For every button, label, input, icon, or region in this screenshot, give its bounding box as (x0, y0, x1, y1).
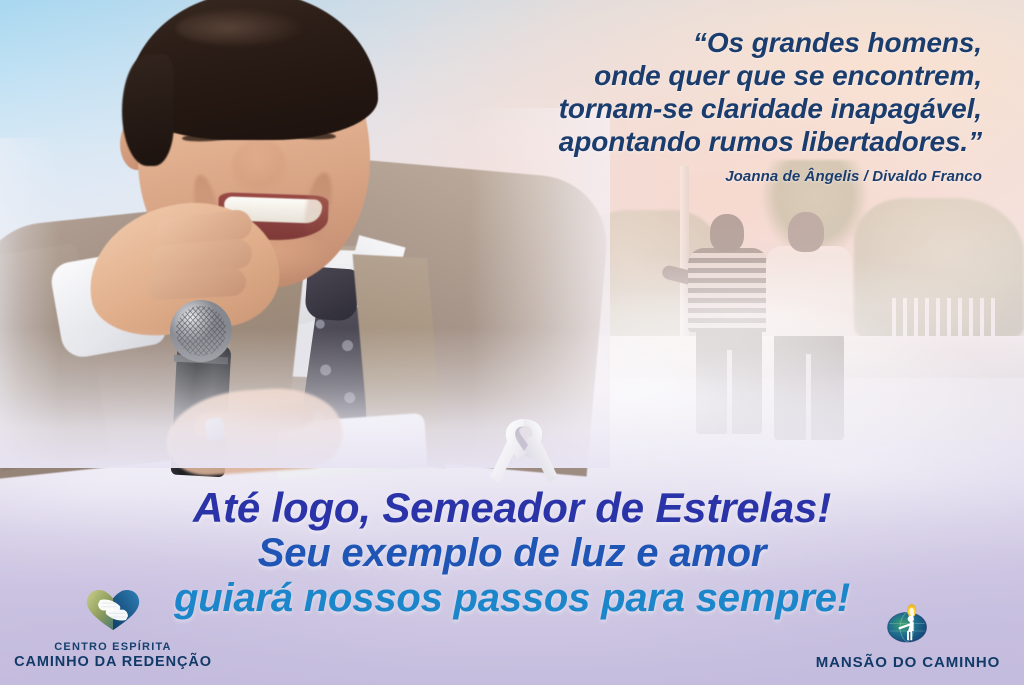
quote-line-4: apontando rumos libertadores.” (382, 125, 982, 158)
logo-mansao-do-caminho: MANSÃO DO CAMINHO (798, 603, 1018, 671)
nose (232, 140, 288, 202)
quote-line-1: “Os grandes homens, (382, 26, 982, 59)
tribute-line-1: Até logo, Semeador de Estrelas! (0, 484, 1024, 531)
memorial-tribute-poster: “Os grandes homens, onde quer que se enc… (0, 0, 1024, 685)
tribute-line-2: Seu exemplo de luz e amor (0, 531, 1024, 576)
quote-block: “Os grandes homens, onde quer que se enc… (382, 26, 982, 185)
hair-sideburn (122, 54, 174, 166)
logo-right-line-1: MANSÃO DO CAMINHO (798, 654, 1018, 671)
finger-3 (145, 267, 246, 300)
white-ribbon-icon (487, 409, 561, 491)
logo-left-line-2: CAMINHO DA REDENÇÃO (8, 654, 218, 671)
quote-line-3: tornam-se claridade inapagável, (382, 92, 982, 125)
globe-torch-bearer-icon (798, 603, 1018, 651)
quote-attribution: Joanna de Ângelis / Divaldo Franco (382, 168, 982, 185)
logo-centro-espirita-caminho-da-redencao: CENTRO ESPÍRITA CAMINHO DA REDENÇÃO (8, 588, 218, 671)
logo-left-line-1: CENTRO ESPÍRITA (8, 641, 218, 654)
heart-hands-icon (8, 588, 218, 638)
quote-line-2: onde quer que se encontrem, (382, 59, 982, 92)
hair-highlight (176, 10, 306, 46)
